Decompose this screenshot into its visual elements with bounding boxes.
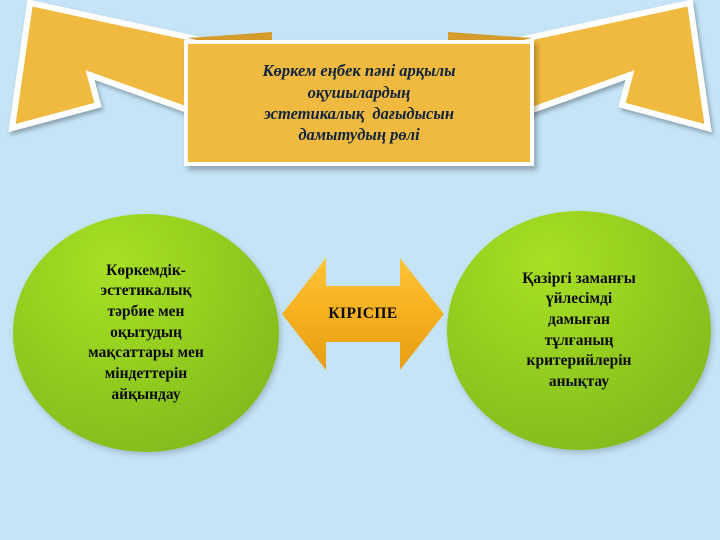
left-circle-line-7: айқындау bbox=[34, 385, 257, 406]
left-circle-line-2: эстетикалық bbox=[34, 281, 257, 302]
slide-canvas: Көркем еңбек пәні арқылы оқушылардың эст… bbox=[0, 0, 720, 540]
left-circle-line-1: Көркемдік- bbox=[34, 261, 257, 282]
left-circle-line-6: міндеттерін bbox=[34, 364, 257, 385]
title-line-2: оқушылардың bbox=[194, 82, 524, 103]
left-circle-line-5: мақсаттары мен bbox=[34, 343, 257, 364]
title-line-4: дамытудың рөлі bbox=[194, 124, 524, 145]
title-line-1: Көркем еңбек пәні арқылы bbox=[194, 60, 524, 81]
left-circle-node[interactable]: Көркемдік- эстетикалық тәрбие мен оқытуд… bbox=[13, 214, 279, 452]
right-circle-line-6: анықтау bbox=[468, 372, 690, 393]
double-headed-horizontal-arrow-icon bbox=[282, 254, 444, 374]
left-circle-text: Көркемдік- эстетикалық тәрбие мен оқытуд… bbox=[34, 261, 257, 405]
left-circle-line-4: оқытудың bbox=[34, 323, 257, 344]
left-circle-line-3: тәрбие мен bbox=[34, 302, 257, 323]
center-arrow-shape[interactable]: КІРІСПЕ bbox=[282, 254, 444, 374]
title-text: Көркем еңбек пәні арқылы оқушылардың эст… bbox=[188, 60, 530, 146]
right-circle-node[interactable]: Қазіргі заманғы үйлесімді дамыған тұлған… bbox=[447, 211, 711, 450]
title-line-3: эстетикалық дағыдысын bbox=[194, 103, 524, 124]
right-circle-line-4: тұлғаның bbox=[468, 331, 690, 352]
title-plaque: Көркем еңбек пәні арқылы оқушылардың эст… bbox=[184, 40, 534, 166]
right-circle-line-1: Қазіргі заманғы bbox=[468, 269, 690, 290]
right-circle-line-3: дамыған bbox=[468, 310, 690, 331]
right-circle-line-5: критерийлерін bbox=[468, 351, 690, 372]
right-circle-line-2: үйлесімді bbox=[468, 289, 690, 310]
right-circle-text: Қазіргі заманғы үйлесімді дамыған тұлған… bbox=[468, 269, 690, 393]
